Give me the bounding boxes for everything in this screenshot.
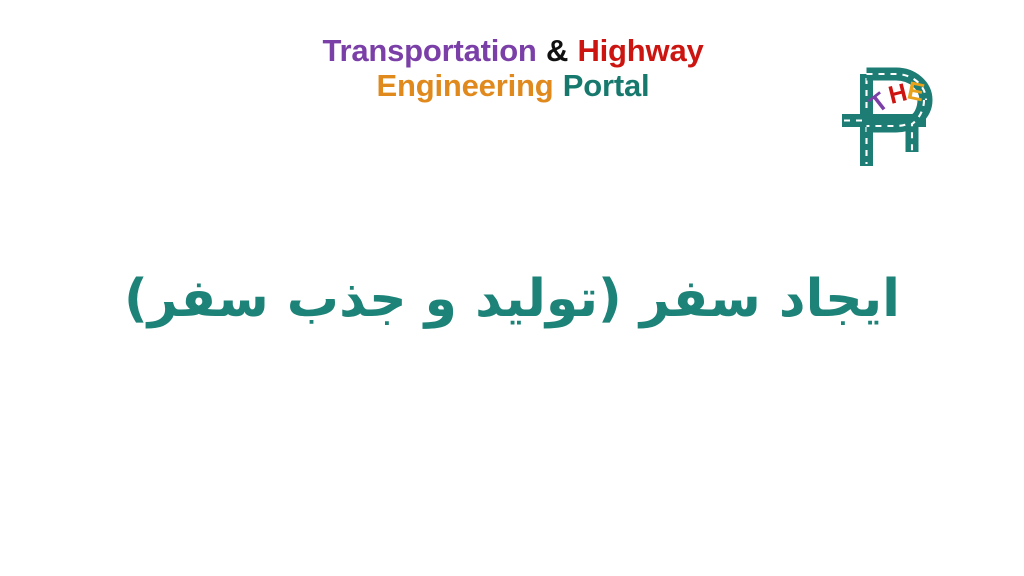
logo-letter-t: T <box>864 87 893 118</box>
brand-wordmark: Transportation&Highway EngineeringPortal <box>0 34 1024 103</box>
slide-title: ایجاد سفر (تولید و جذب سفر) <box>0 267 1024 332</box>
logo-bowl-lane-marking <box>867 74 927 126</box>
logo-road-tail <box>912 100 924 152</box>
logo-road-stem <box>860 74 873 166</box>
brand-word-highway: Highway <box>577 33 703 68</box>
brand-word-transportation: Transportation <box>322 33 536 68</box>
logo-letter-e: E <box>905 76 927 107</box>
brand-word-portal: Portal <box>563 68 650 103</box>
logo-road-crossbar <box>842 114 926 127</box>
logo-road-bowl <box>867 74 927 126</box>
brand-word-ampersand: & <box>546 33 568 68</box>
brand-wordmark-line-1: Transportation&Highway <box>0 34 1024 67</box>
presentation-slide: Transportation&Highway EngineeringPortal <box>0 0 1024 576</box>
brand-header: Transportation&Highway EngineeringPortal <box>0 34 1024 144</box>
slide-content-area <box>70 345 954 545</box>
brand-word-engineering: Engineering <box>377 68 554 103</box>
logo-tail-lane-marking <box>912 100 924 152</box>
brand-logo: T H E <box>838 52 956 170</box>
road-p-logo-icon: T H E <box>838 52 956 170</box>
brand-wordmark-line-2: EngineeringPortal <box>0 69 1024 102</box>
logo-letter-h: H <box>886 78 910 110</box>
